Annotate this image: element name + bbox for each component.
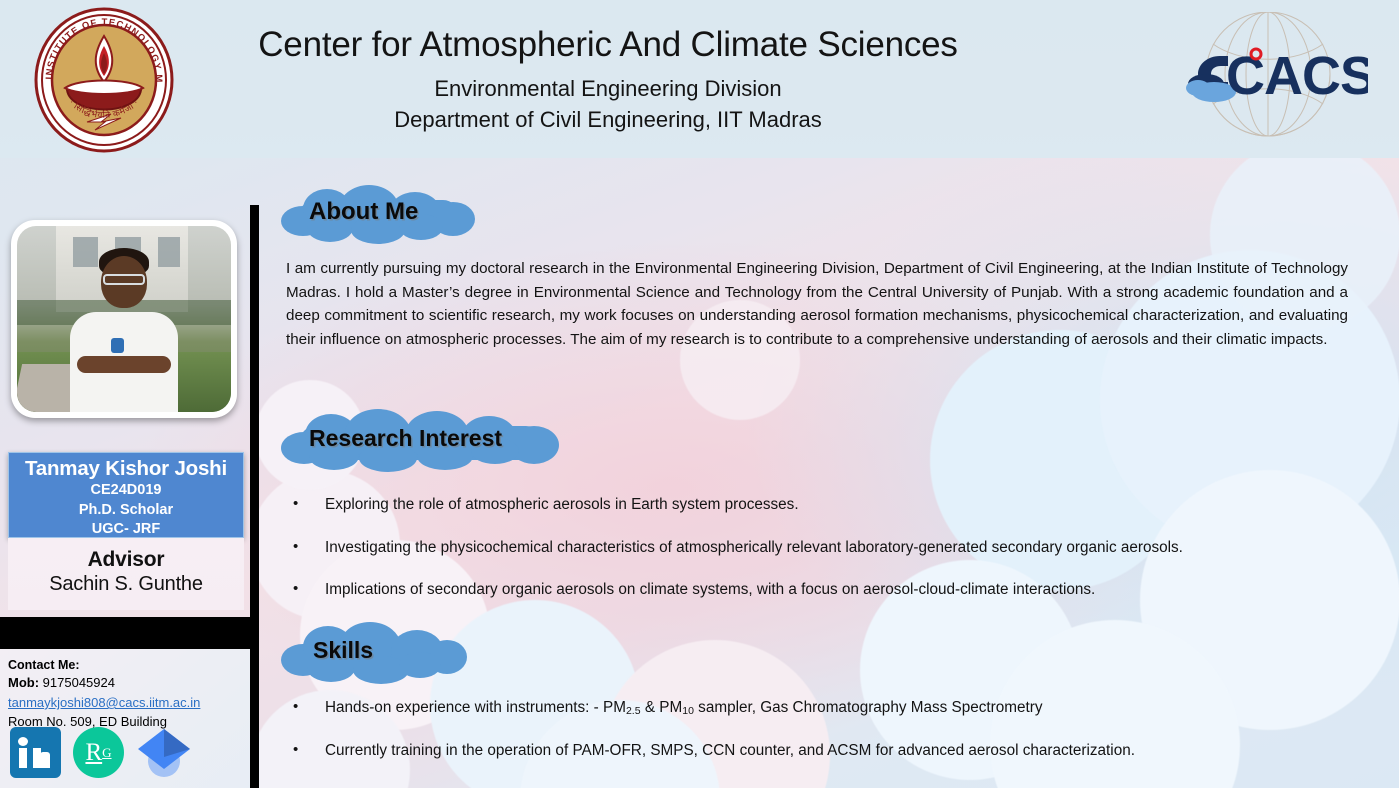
research-interest-list: Exploring the role of atmospheric aeroso… bbox=[281, 495, 1371, 601]
profile-name-card: Tanmay Kishor Joshi CE24D019 Ph.D. Schol… bbox=[8, 452, 244, 538]
contact-mobile-label: Mob: bbox=[8, 675, 39, 690]
profile-roll-no: CE24D019 bbox=[9, 481, 243, 501]
research-interest-badge: Research Interest bbox=[281, 414, 565, 472]
header-subtitle-division: Environmental Engineering Division bbox=[228, 76, 988, 102]
researchgate-icon[interactable]: RG bbox=[73, 727, 124, 778]
skills-title: Skills bbox=[313, 637, 373, 664]
list-item: Hands-on experience with instruments: - … bbox=[281, 698, 1371, 719]
researchgate-letter: R bbox=[85, 739, 102, 767]
linkedin-icon[interactable] bbox=[10, 727, 61, 778]
profile-designation: Ph.D. Scholar bbox=[9, 501, 243, 521]
left-column-black-band bbox=[0, 617, 250, 649]
page-title: Center for Atmospheric And Climate Scien… bbox=[228, 27, 988, 64]
list-item: Exploring the role of atmospheric aeroso… bbox=[281, 495, 1371, 516]
poster-canvas: INDIAN INSTITUTE OF TECHNOLOGY MADRAS · … bbox=[0, 0, 1399, 788]
contact-mobile-row: Mob: 9175045924 bbox=[8, 674, 250, 693]
advisor-label: Advisor bbox=[8, 538, 244, 572]
google-scholar-icon[interactable] bbox=[136, 727, 192, 778]
profile-name: Tanmay Kishor Joshi bbox=[9, 458, 243, 481]
about-me-title: About Me bbox=[309, 198, 418, 226]
list-item: Implications of secondary organic aeroso… bbox=[281, 580, 1371, 601]
contact-block: Contact Me: Mob: 9175045924 tanmaykjoshi… bbox=[0, 649, 250, 788]
researchgate-superscript: G bbox=[102, 745, 111, 761]
avatar bbox=[17, 226, 231, 412]
research-interest-title: Research Interest bbox=[309, 425, 502, 452]
svg-text:CACS: CACS bbox=[1226, 46, 1368, 106]
list-item: Currently training in the operation of P… bbox=[281, 741, 1371, 762]
cacs-logo-icon: CACS bbox=[1168, 12, 1368, 147]
profile-fellowship: UGC- JRF bbox=[9, 520, 243, 540]
main-content: About Me I am currently pursuing my doct… bbox=[259, 158, 1399, 788]
left-column: Tanmay Kishor Joshi CE24D019 Ph.D. Schol… bbox=[0, 158, 252, 788]
skills-badge: Skills bbox=[281, 626, 465, 684]
header-subtitle-department: Department of Civil Engineering, IIT Mad… bbox=[228, 107, 988, 133]
contact-heading: Contact Me: bbox=[8, 656, 250, 674]
social-links: RG bbox=[10, 727, 192, 778]
about-me-text: I am currently pursuing my doctoral rese… bbox=[286, 257, 1348, 351]
advisor-name: Sachin S. Gunthe bbox=[8, 573, 244, 596]
page-header: INDIAN INSTITUTE OF TECHNOLOGY MADRAS · … bbox=[0, 0, 1399, 158]
about-me-badge: About Me bbox=[281, 188, 481, 244]
contact-email-link[interactable]: tanmaykjoshi808@cacs.iitm.ac.in bbox=[8, 693, 200, 713]
profile-photo-card bbox=[11, 220, 237, 418]
list-item: Investigating the physicochemical charac… bbox=[281, 538, 1371, 559]
contact-mobile-value: 9175045924 bbox=[43, 675, 115, 690]
skills-list: Hands-on experience with instruments: - … bbox=[281, 698, 1371, 761]
iit-madras-logo-icon: INDIAN INSTITUTE OF TECHNOLOGY MADRAS · … bbox=[31, 6, 177, 154]
advisor-block: Advisor Sachin S. Gunthe bbox=[8, 538, 244, 610]
